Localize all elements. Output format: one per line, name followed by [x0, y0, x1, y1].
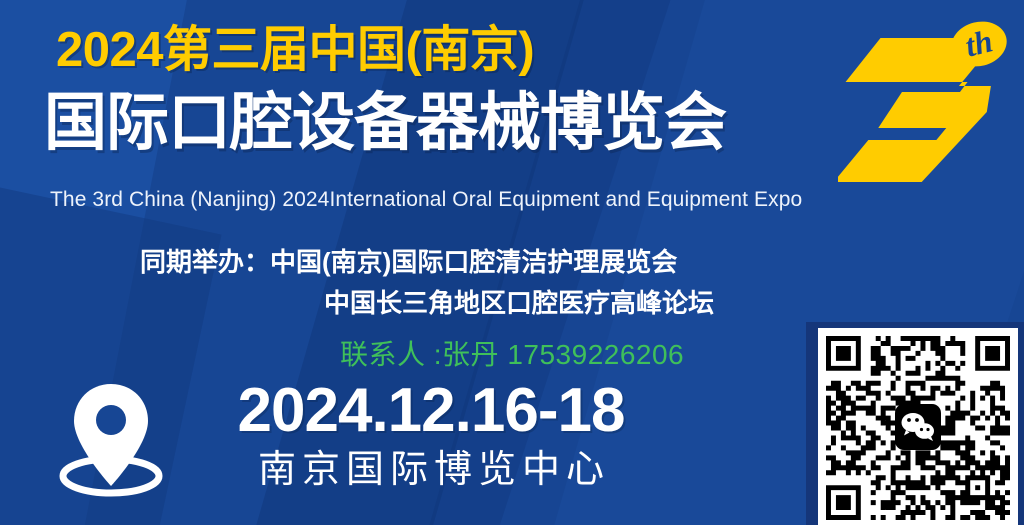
- title-english-subtitle: The 3rd China (Nanjing) 2024Internationa…: [50, 186, 802, 214]
- event-poster: 2024第三届中国(南京) 国际口腔设备器械博览会 The 3rd China …: [0, 0, 1024, 525]
- wechat-logo-icon: [895, 404, 941, 450]
- contact-info: 联系人 :张丹 17539226206: [340, 337, 684, 373]
- map-pin-icon: [56, 378, 166, 498]
- edition-logo-3th: th: [838, 16, 1018, 186]
- event-date-block: 2024.12.16-18 南京国际博览中心: [166, 378, 696, 494]
- event-venue: 南京国际博览中心: [166, 446, 696, 494]
- concurrent-event-line-1: 同期举办：中国(南京)国际口腔清洁护理展览会: [140, 245, 677, 279]
- qr-code-panel[interactable]: [806, 322, 1024, 525]
- qr-code-card: [818, 328, 1018, 525]
- title-chinese-main: 国际口腔设备器械博览会: [44, 84, 726, 162]
- title-chinese-top: 2024第三届中国(南京): [56, 22, 534, 78]
- poster-content: 2024第三届中国(南京) 国际口腔设备器械博览会 The 3rd China …: [0, 0, 1024, 525]
- concurrent-event-line-2: 中国长三角地区口腔医疗高峰论坛: [324, 286, 714, 320]
- event-date: 2024.12.16-18: [166, 378, 696, 444]
